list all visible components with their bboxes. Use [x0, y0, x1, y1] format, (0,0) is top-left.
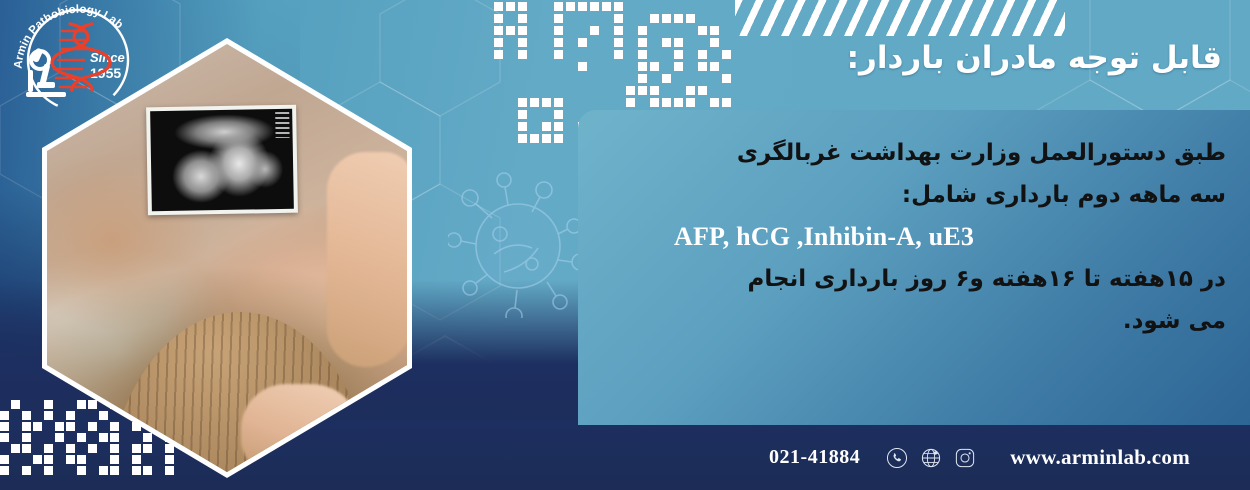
dot-cell	[722, 98, 731, 107]
dot-cell	[698, 26, 707, 35]
dot-cell	[638, 38, 647, 47]
hand-holding-scan	[327, 152, 407, 367]
dot-cell	[614, 14, 623, 23]
dot-cell	[530, 98, 539, 107]
dot-cell	[602, 2, 611, 11]
dot-cell	[518, 134, 527, 143]
marker-list: AFP, hCG ,Inhibin-A, uE3	[626, 216, 1226, 258]
dot-cell	[674, 98, 683, 107]
dot-cell	[0, 411, 9, 420]
dot-cell	[554, 38, 563, 47]
dot-cell	[554, 26, 563, 35]
dot-cell	[494, 2, 503, 11]
dot-cell	[518, 38, 527, 47]
dot-cell	[566, 2, 575, 11]
dot-cell	[44, 400, 53, 409]
dot-cell	[518, 26, 527, 35]
page-title: قابل توجه مادران باردار:	[662, 40, 1222, 76]
promo-banner: Armin Pathobiology Lab Since 1955	[0, 0, 1250, 490]
dot-cell	[638, 62, 647, 71]
dot-cell	[494, 26, 503, 35]
dot-cell	[554, 14, 563, 23]
dot-cell	[650, 62, 659, 71]
dot-cell	[698, 86, 707, 95]
dot-cell	[542, 98, 551, 107]
dot-cell	[686, 14, 695, 23]
dot-cell	[518, 2, 527, 11]
dot-cell	[494, 50, 503, 59]
dot-cell	[650, 86, 659, 95]
dot-cell	[686, 98, 695, 107]
dot-cell	[578, 38, 587, 47]
dot-cell	[686, 86, 695, 95]
virus-icon	[448, 168, 588, 318]
dot-cell	[590, 2, 599, 11]
dot-cell	[650, 14, 659, 23]
dot-cell	[638, 74, 647, 83]
dot-cell	[542, 134, 551, 143]
dot-cell	[662, 98, 671, 107]
dot-cell	[674, 14, 683, 23]
phone-number[interactable]: 021-41884	[769, 446, 860, 469]
body-line-4: در ۱۵هفته تا ۱۶هفته و۶ روز بارداری انجام	[626, 258, 1226, 300]
dot-cell	[578, 2, 587, 11]
armin-pathobiology-lab-logo[interactable]: Armin Pathobiology Lab Since 1955	[4, 4, 154, 114]
body-copy: طبق دستورالعمل وزارت بهداشت غربالگری سه …	[626, 132, 1226, 342]
dot-cell	[554, 134, 563, 143]
dot-cell	[554, 110, 563, 119]
dot-cell	[614, 50, 623, 59]
dot-cell	[518, 98, 527, 107]
dot-cell	[578, 62, 587, 71]
dot-cell	[494, 38, 503, 47]
dot-cell	[530, 134, 539, 143]
dot-cell	[44, 411, 53, 420]
dot-cell	[650, 98, 659, 107]
website-url[interactable]: www.arminlab.com	[1010, 445, 1190, 470]
body-line-2: سه ماهه دوم بارداری شامل:	[626, 174, 1226, 216]
diagonal-stripes-decor	[735, 0, 1065, 36]
dot-cell	[494, 14, 503, 23]
dot-cell	[638, 26, 647, 35]
dot-cell	[518, 122, 527, 131]
phone-icon[interactable]	[886, 447, 908, 469]
body-line-1: طبق دستورالعمل وزارت بهداشت غربالگری	[626, 132, 1226, 174]
dot-cell	[554, 122, 563, 131]
footer-bar: 021-41884 www.arminlab.com	[0, 425, 1250, 490]
dot-cell	[518, 110, 527, 119]
dot-cell	[626, 86, 635, 95]
dot-cell	[590, 26, 599, 35]
dot-cell	[66, 411, 75, 420]
globe-icon[interactable]	[920, 447, 942, 469]
instagram-icon[interactable]	[954, 447, 976, 469]
body-line-5: می شود.	[626, 300, 1226, 342]
dot-cell	[614, 26, 623, 35]
dot-cell	[11, 400, 20, 409]
dot-cell	[99, 411, 108, 420]
dot-cell	[506, 26, 515, 35]
dot-cell	[638, 50, 647, 59]
dot-cell	[77, 400, 86, 409]
dot-cell	[506, 2, 515, 11]
dot-cell	[662, 14, 671, 23]
dot-cell	[542, 122, 551, 131]
dot-cell	[554, 50, 563, 59]
ultrasound-scan-image	[150, 109, 294, 211]
dot-cell	[88, 400, 97, 409]
social-icons	[886, 447, 976, 469]
dot-cell	[22, 411, 31, 420]
dot-cell	[710, 98, 719, 107]
logo-year-text: 1955	[90, 65, 121, 81]
dot-cell	[710, 26, 719, 35]
dot-cell	[626, 98, 635, 107]
ultrasound-photo-frame	[146, 105, 298, 216]
dot-cell	[554, 2, 563, 11]
dot-cell	[638, 86, 647, 95]
dot-cell	[554, 98, 563, 107]
dot-cell	[518, 50, 527, 59]
dot-cell	[614, 2, 623, 11]
dot-cell	[518, 14, 527, 23]
dot-cell	[614, 38, 623, 47]
